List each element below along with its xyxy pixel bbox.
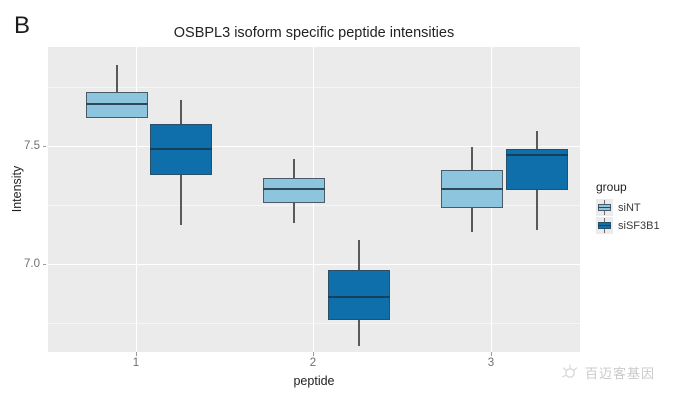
whisker-lower [293, 203, 295, 223]
median-line [441, 188, 503, 190]
box-siNT-peptide2 [263, 178, 325, 203]
y-tick-label: 7.5 [0, 140, 40, 152]
plot-panel [48, 47, 580, 352]
legend-item-siNT[interactable]: siNT [596, 199, 672, 216]
legend-item-label: siNT [618, 202, 641, 214]
median-line [150, 148, 212, 150]
median-line [263, 188, 325, 190]
whisker-upper [293, 159, 295, 178]
whisker-upper [180, 100, 182, 124]
x-tick-mark [313, 352, 314, 356]
whisker-lower [358, 320, 360, 346]
legend-key-icon [596, 199, 613, 216]
watermark: 百迈客基因 [560, 362, 655, 382]
whisker-upper [358, 240, 360, 270]
whisker-lower [180, 175, 182, 225]
legend: group siNT siSF3B1 [596, 180, 672, 235]
panel-letter: B [14, 14, 31, 38]
whisker-lower [471, 208, 473, 232]
median-line [506, 154, 568, 156]
median-line [328, 296, 390, 298]
legend-title: group [596, 180, 672, 194]
watermark-logo-icon [560, 362, 580, 382]
y-tick-mark [43, 264, 46, 265]
watermark-text: 百迈客基因 [585, 363, 655, 382]
legend-item-siSF3B1[interactable]: siSF3B1 [596, 217, 672, 234]
x-axis-title: peptide [48, 374, 580, 388]
x-tick-mark [136, 352, 137, 356]
x-tick-label: 2 [293, 357, 333, 369]
x-tick-label: 1 [116, 357, 156, 369]
y-tick-label: 7.0 [0, 258, 40, 270]
whisker-upper [116, 65, 118, 92]
whisker-upper [536, 131, 538, 149]
median-line [86, 103, 148, 105]
legend-key-icon [596, 217, 613, 234]
figure-root: B OSBPL3 isoform specific peptide intens… [0, 0, 673, 406]
x-tick-mark [491, 352, 492, 356]
chart-title: OSBPL3 isoform specific peptide intensit… [48, 25, 580, 41]
y-tick-mark [43, 146, 46, 147]
whisker-upper [471, 147, 473, 170]
whisker-lower [536, 190, 538, 230]
x-tick-label: 3 [471, 357, 511, 369]
legend-item-label: siSF3B1 [618, 220, 660, 232]
box-siSF3B1-peptide2 [328, 270, 390, 320]
